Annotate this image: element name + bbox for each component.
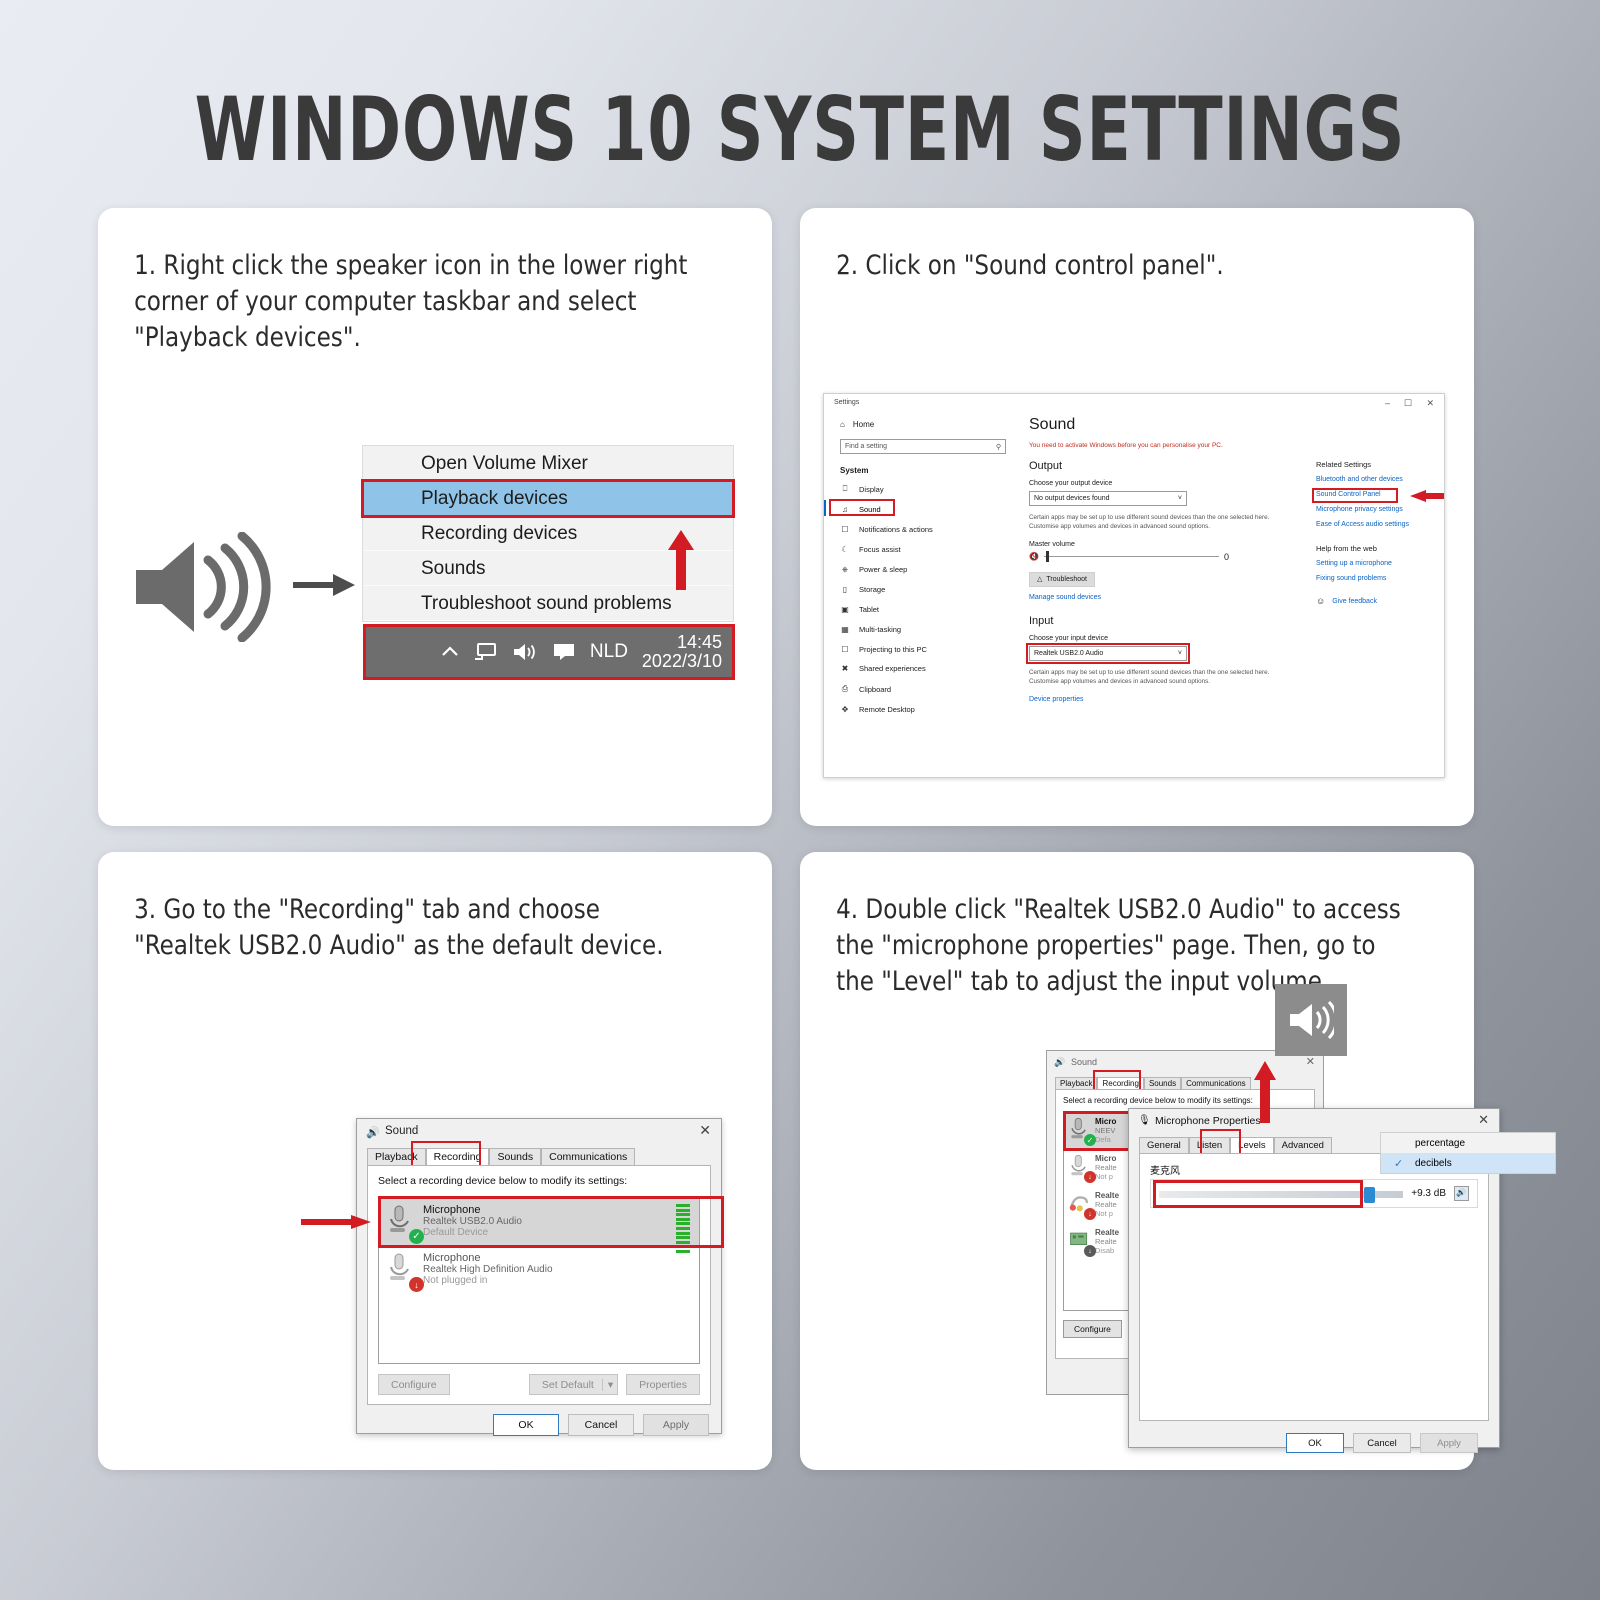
device-name: Microphone [423,1252,553,1264]
apply-button[interactable]: Apply [643,1414,709,1436]
tab-communications[interactable]: Communications [1181,1077,1251,1089]
speaker-badge-icon [1275,984,1347,1056]
device-driver: NEEV [1095,1126,1116,1135]
taskbar-time: 14:45 [642,633,722,652]
mute-icon[interactable]: 🔇 [1029,552,1039,561]
not-plugged-in-icon: ↓ [1084,1208,1096,1220]
sidebar-active-indicator [824,500,826,516]
master-volume-row: 🔇 0 [1029,552,1289,562]
remote-desktop-icon: ✥ [840,705,850,714]
minimize-icon[interactable]: – [1385,398,1390,408]
tab-advanced[interactable]: Advanced [1274,1137,1332,1153]
close-icon[interactable]: ✕ [1306,1055,1315,1068]
device-name: Realte [1095,1228,1119,1237]
context-menu-item-troubleshoot-sound-problems[interactable]: Troubleshoot sound problems [363,586,733,621]
recording-tab-panel: Select a recording device below to modif… [367,1165,711,1405]
troubleshoot-button[interactable]: △ Troubleshoot [1029,572,1095,587]
units-toggle-button[interactable]: 🔊 [1454,1186,1469,1201]
settings-main-pane: Sound You need to activate Windows befor… [1029,416,1289,703]
sidebar-item-home[interactable]: ⌂ Home [832,416,1017,433]
arrow-right-icon [293,572,355,598]
output-device-value: No output devices found [1034,495,1110,502]
taskbar-date: 2022/3/10 [642,652,722,671]
device-name: Micro [1095,1117,1116,1126]
help-from-web-heading: Help from the web [1316,544,1445,553]
context-menu-item-open-volume-mixer[interactable]: Open Volume Mixer [363,446,733,481]
sidebar-item-display-label: Display [859,485,884,494]
apply-button[interactable]: Apply [1420,1433,1478,1453]
sidebar-item-remote-desktop-label: Remote Desktop [859,705,915,714]
default-device-check-icon: ✓ [409,1229,424,1244]
input-device-label: Choose your input device [1029,635,1289,642]
set-default-label: Set Default [542,1379,594,1391]
master-volume-value: 0 [1224,552,1229,562]
set-default-button[interactable]: Set Default ▾ [529,1374,618,1395]
feedback-icon: ☺ [1316,596,1325,606]
device-driver: Realtek USB2.0 Audio [423,1216,522,1227]
settings-sidebar: ⌂ Home Find a setting ⚲ System ⎕ Display… [832,416,1017,719]
input-heading: Input [1029,615,1289,627]
sound-dialog-titlebar: 🔊 Sound ✕ [357,1119,721,1145]
page-title: WINDOWS 10 SYSTEM SETTINGS [144,0,1456,181]
sound-icon: ♫ [840,505,850,514]
output-heading: Output [1029,460,1289,472]
recording-device-list[interactable]: Microphone Realtek USB2.0 Audio Default … [378,1196,700,1364]
sidebar-category-system: System [840,466,1017,475]
device-status: Not p [1095,1209,1119,1218]
manage-sound-devices-link[interactable]: Manage sound devices [1029,594,1289,601]
default-device-check-icon: ✓ [1084,1134,1096,1146]
steps-grid: 1. Right click the speaker icon in the l… [98,208,1502,1496]
level-value: +9.3 dB [1411,1188,1446,1199]
ok-button[interactable]: OK [493,1414,559,1436]
microphone-properties-title: Microphone Properties [1155,1115,1261,1127]
sound-dialog-title: Sound [1071,1057,1097,1067]
warning-icon: △ [1037,575,1042,583]
network-icon[interactable] [474,642,498,662]
sidebar-item-remote-desktop[interactable]: ✥ Remote Desktop [832,700,1017,720]
tab-listen[interactable]: Listen [1189,1137,1230,1153]
menu-item-percentage[interactable]: percentage [1381,1133,1555,1153]
device-action-buttons: Configure Set Default ▾ Properties [378,1374,700,1395]
units-context-menu[interactable]: percentage ✓ decibels [1380,1132,1556,1174]
search-icon: ⚲ [996,443,1001,451]
sidebar-item-home-label: Home [853,420,874,429]
link-fixing-sound-problems[interactable]: Fixing sound problems [1316,575,1445,582]
configure-button[interactable]: Configure [378,1374,450,1395]
speaker-icon [128,532,278,642]
tab-sounds[interactable]: Sounds [1144,1077,1181,1089]
step-1-text: 1. Right click the speaker icon in the l… [98,208,738,356]
sidebar-item-focus-assist[interactable]: ☾ Focus assist [832,539,1017,559]
search-input[interactable]: Find a setting ⚲ [840,439,1006,454]
sound-app-icon: 🔊 [1054,1057,1065,1068]
sidebar-item-clipboard[interactable]: ⎙ Clipboard [832,679,1017,700]
sound-dialog-title: Sound [385,1125,418,1137]
tab-recording[interactable]: Recording [426,1148,490,1165]
sidebar-item-clipboard-label: Clipboard [859,685,891,694]
sidebar-item-power-sleep-label: Power & sleep [859,565,907,574]
device-driver: Realtek High Definition Audio [423,1264,553,1275]
input-device-value: Realtek USB2.0 Audio [1034,650,1103,657]
display-icon: ⎕ [840,484,850,494]
home-icon: ⌂ [840,420,845,429]
recording-instruction: Select a recording device below to modif… [378,1175,700,1187]
input-device-select[interactable]: Realtek USB2.0 Audio ˅ [1029,646,1187,661]
clipboard-icon: ⎙ [840,684,850,694]
sidebar-item-sound[interactable]: ♫ Sound [832,500,1017,520]
sidebar-item-notifications[interactable]: ☐ Notifications & actions [832,520,1017,540]
sound-app-icon: 🔊 [366,1126,380,1139]
sound-dialog-tabs: Playback Recording Sounds Communications [367,1145,721,1165]
project-icon: ☐ [840,645,850,654]
step-card-1: 1. Right click the speaker icon in the l… [98,208,772,826]
sidebar-item-storage-label: Storage [859,585,885,594]
steps-row-2: 3. Go to the "Recording" tab and choose … [98,852,1502,1470]
link-sound-control-panel[interactable]: Sound Control Panel [1316,491,1381,498]
sound-dialog: 🔊 Sound ✕ Playback Recording Sounds Comm… [356,1118,722,1434]
close-icon[interactable]: ✕ [1426,398,1434,409]
step-2-text: 2. Click on "Sound control panel". [800,208,1440,284]
tab-levels[interactable]: Levels [1230,1137,1273,1153]
output-device-select[interactable]: No output devices found ˅ [1029,491,1187,506]
chevron-down-icon: ˅ [1178,495,1182,502]
sidebar-item-multi-tasking[interactable]: ▦ Multi-tasking [832,619,1017,639]
taskbar-clock[interactable]: 14:45 2022/3/10 [642,633,722,672]
sidebar-item-storage[interactable]: ▯ Storage [832,580,1017,600]
slider-handle[interactable] [1364,1187,1375,1203]
sidebar-item-shared-experiences[interactable]: ✖ Shared experiences [832,659,1017,679]
related-settings-heading: Related Settings [1316,460,1445,469]
sidebar-item-focus-assist-label: Focus assist [859,545,901,554]
speaker-context-menu[interactable]: Open Volume Mixer Playback devices Recor… [362,445,734,622]
link-bluetooth-and-other-devices[interactable]: Bluetooth and other devices [1316,476,1445,483]
device-status: Defa [1095,1135,1116,1144]
tab-playback[interactable]: Playback [367,1148,426,1165]
slider-handle[interactable] [1046,551,1049,562]
disabled-device-icon: ↓ [1084,1245,1096,1257]
search-placeholder: Find a setting [845,443,887,450]
power-icon: ⎈ [840,565,850,575]
master-volume-label: Master volume [1029,541,1289,548]
related-settings-pane: Related Settings Bluetooth and other dev… [1316,460,1445,606]
sidebar-item-multi-tasking-label: Multi-tasking [859,625,901,634]
cancel-button[interactable]: Cancel [1353,1433,1411,1453]
link-setting-up-a-microphone[interactable]: Setting up a microphone [1316,560,1445,567]
activation-warning: You need to activate Windows before you … [1029,442,1289,449]
tablet-icon: ▣ [840,605,850,614]
sidebar-item-tablet[interactable]: ▣ Tablet [832,600,1017,620]
arrow-up-icon [1254,1061,1276,1123]
menu-item-percentage-label: percentage [1415,1138,1465,1149]
maximize-icon[interactable]: ☐ [1404,398,1412,409]
link-microphone-privacy-settings[interactable]: Microphone privacy settings [1316,506,1445,513]
settings-page-title: Sound [1029,416,1289,434]
device-driver: Realte [1095,1200,1119,1209]
sidebar-item-power-sleep[interactable]: ⎈ Power & sleep [832,559,1017,580]
sidebar-item-display[interactable]: ⎕ Display [832,479,1017,500]
device-status: Not p [1095,1172,1117,1181]
menu-item-decibels-label: decibels [1415,1158,1452,1169]
sidebar-item-projecting[interactable]: ☐ Projecting to this PC [832,639,1017,659]
close-icon[interactable]: ✕ [1478,1112,1489,1128]
arrow-up-icon [668,530,694,590]
output-device-label: Choose your output device [1029,480,1289,487]
sidebar-item-tablet-label: Tablet [859,605,879,614]
storage-icon: ▯ [840,585,850,594]
step-3-text: 3. Go to the "Recording" tab and choose … [98,852,738,964]
context-menu-item-playback-devices[interactable]: Playback devices [363,481,733,516]
device-status: Default Device [423,1227,522,1238]
sidebar-item-sound-label: Sound [859,505,881,514]
notifications-icon: ☐ [840,525,850,534]
link-ease-of-access-audio-settings[interactable]: Ease of Access audio settings [1316,521,1445,528]
device-properties-link[interactable]: Device properties [1029,696,1289,703]
steps-row-1: 1. Right click the speaker icon in the l… [98,208,1502,826]
tab-recording[interactable]: Recording [1097,1077,1143,1089]
windows-taskbar: NLD 14:45 2022/3/10 [363,624,735,680]
configure-button[interactable]: Configure [1063,1320,1122,1338]
level-slider[interactable] [1159,1187,1403,1201]
troubleshoot-label: Troubleshoot [1046,576,1087,583]
sound-dialog-footer: OK Cancel Apply [357,1405,721,1436]
volume-icon[interactable] [512,642,538,662]
sidebar-item-notifications-label: Notifications & actions [859,525,933,534]
ok-button[interactable]: OK [1286,1433,1344,1453]
tab-sounds[interactable]: Sounds [489,1148,541,1165]
step-card-2: 2. Click on "Sound control panel". Setti… [800,208,1474,826]
settings-window: Settings – ☐ ✕ ⌂ Home Find a setting ⚲ S… [823,393,1445,778]
device-name: Realte [1095,1191,1119,1200]
device-driver: Realte [1095,1163,1117,1172]
cancel-button[interactable]: Cancel [568,1414,634,1436]
multitask-icon: ▦ [840,625,850,634]
device-driver: Realte [1095,1237,1119,1246]
tab-playback[interactable]: Playback [1055,1077,1097,1089]
check-icon: ✓ [1394,1157,1403,1170]
device-name: Micro [1095,1154,1117,1163]
panel-1-illustration: Open Volume Mixer Playback devices Recor… [98,448,772,728]
step-4-text: 4. Double click "Realtek USB2.0 Audio" t… [800,852,1440,1000]
step-card-4: 4. Double click "Realtek USB2.0 Audio" t… [800,852,1474,1470]
properties-button[interactable]: Properties [626,1374,700,1395]
tab-communications[interactable]: Communications [541,1148,635,1165]
action-center-icon[interactable] [552,642,576,662]
microphone-icon: 🎙 [1138,1115,1151,1126]
chevron-down-icon: ˅ [1178,650,1182,657]
chevron-down-icon[interactable]: ▾ [602,1379,613,1391]
arrow-right-icon [301,1215,371,1229]
not-plugged-in-icon: ↓ [1084,1171,1096,1183]
step-card-3: 3. Go to the "Recording" tab and choose … [98,852,772,1470]
close-icon[interactable]: ✕ [699,1122,711,1139]
share-icon: ✖ [840,664,850,673]
chevron-up-icon[interactable] [440,644,460,660]
not-plugged-in-icon: ↓ [409,1277,424,1292]
table-row[interactable]: Microphone Realtek High Definition Audio… [379,1245,699,1293]
settings-app-title: Settings [834,399,859,406]
device-name: Microphone [423,1204,522,1216]
taskbar-language[interactable]: NLD [590,641,628,663]
table-row[interactable]: Microphone Realtek USB2.0 Audio Default … [379,1197,699,1245]
menu-item-decibels[interactable]: ✓ decibels [1381,1153,1555,1173]
master-volume-slider[interactable] [1044,556,1219,557]
give-feedback-link[interactable]: Give feedback [1332,598,1377,605]
output-note: Certain apps may be set up to use differ… [1029,513,1289,532]
arrow-left-icon [1408,490,1445,502]
input-note: Certain apps may be set up to use differ… [1029,668,1289,687]
device-status: Not plugged in [423,1275,553,1286]
sidebar-item-projecting-label: Projecting to this PC [859,645,927,654]
moon-icon: ☾ [840,545,850,554]
sidebar-item-shared-experiences-label: Shared experiences [859,664,926,673]
tab-general[interactable]: General [1139,1137,1189,1153]
device-status: Disab [1095,1246,1119,1255]
